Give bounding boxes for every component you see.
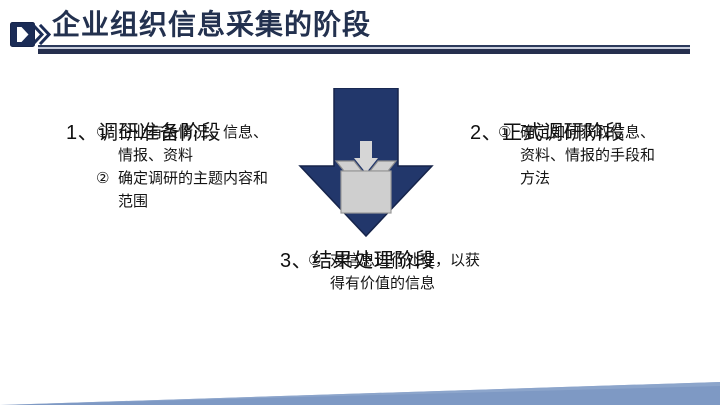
stage-block-formal: 2、正式调研阶段 ① 确定如何获取信息、资料、情报的手段和方法 [470, 120, 670, 190]
title-rule-lower [38, 49, 690, 54]
item-text: 确定如何获取信息、资料、情报的手段和方法 [520, 121, 668, 190]
item-marker: ① [498, 121, 520, 144]
double-chevron-right-icon [33, 24, 51, 45]
list-item: ① 对信息进行处理，以获得有价值的信息 [308, 249, 486, 295]
down-arrow-into-box-graphic [296, 88, 436, 238]
page-title: 企业组织信息采集的阶段 [52, 6, 371, 44]
slide-canvas: 企业组织信息采集的阶段 1、调研准备阶段 ① [0, 0, 720, 405]
stage-block-result: 3、结果处理阶段 ① 对信息进行处理，以获得有价值的信息 [274, 248, 479, 295]
list-item: ① 企业有关情况、信息、情报、资料 [96, 121, 271, 167]
list-item: ② 确定调研的主题内容和范围 [96, 167, 271, 213]
stage-item-list: ① 对信息进行处理，以获得有价值的信息 [308, 249, 486, 295]
stage-item-list: ① 企业有关情况、信息、情报、资料 ② 确定调研的主题内容和范围 [96, 121, 271, 213]
stage-block-prep: 1、调研准备阶段 ① 企业有关情况、信息、情报、资料 ② 确定调研的主题内容和范… [66, 120, 271, 213]
item-marker: ① [308, 249, 330, 272]
item-marker: ① [96, 121, 118, 144]
slide-title-bar: 企业组织信息采集的阶段 [0, 0, 720, 62]
decorative-slant-band [0, 360, 720, 405]
stage-item-list: ① 确定如何获取信息、资料、情报的手段和方法 [498, 121, 668, 190]
item-marker: ② [96, 167, 118, 190]
play-badge-icon [10, 22, 35, 47]
item-text: 对信息进行处理，以获得有价值的信息 [330, 249, 486, 295]
list-item: ① 确定如何获取信息、资料、情报的手段和方法 [498, 121, 668, 190]
item-text: 企业有关情况、信息、情报、资料 [118, 121, 271, 167]
item-text: 确定调研的主题内容和范围 [118, 167, 271, 213]
